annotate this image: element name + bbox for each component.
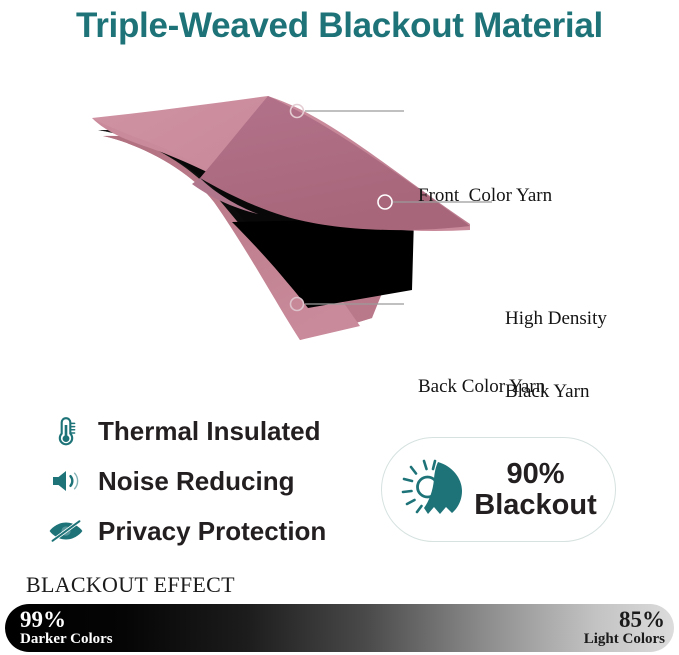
sun-behind-curtain-icon (400, 457, 470, 523)
darker-colors-label: Darker Colors (20, 631, 220, 648)
darker-colors-percent: 99% (20, 608, 220, 631)
fabric-layers-diagram: Front Color Yarn High Density Black Yarn… (0, 78, 679, 368)
layer-front-color-yarn (92, 96, 470, 231)
page-title: Triple-Weaved Blackout Material (0, 2, 679, 50)
blackout-badge-word: Blackout (474, 490, 596, 521)
light-colors-percent: 85% (619, 608, 665, 631)
blackout-effect-left-value: 99% Darker Colors (20, 604, 220, 652)
blackout-badge-percent: 90% (474, 459, 596, 490)
feature-list: Thermal Insulated Noise Reducing Privacy… (46, 408, 376, 558)
blackout-effect-heading: BLACKOUT EFFECT (26, 572, 235, 598)
blackout-effect-right-value: 85% Light Colors (445, 604, 665, 652)
feature-item-thermal-insulated: Thermal Insulated (46, 408, 376, 454)
callout-label-high-density-line1: High Density (505, 307, 607, 331)
blackout-percentage-badge: 90% Blackout (381, 437, 616, 542)
callout-label-front-color-yarn: Front Color Yarn (418, 184, 552, 208)
feature-label-noise-reducing: Noise Reducing (98, 466, 294, 497)
light-colors-label: Light Colors (584, 631, 665, 648)
page-title-text: Triple-Weaved Blackout Material (76, 6, 603, 46)
feature-label-thermal-insulated: Thermal Insulated (98, 416, 321, 447)
thermometer-icon (46, 413, 86, 449)
speaker-icon (46, 463, 86, 499)
blackout-badge-text: 90% Blackout (474, 459, 596, 520)
eye-slash-icon (46, 513, 86, 549)
callout-label-back-color-yarn: Back Color Yarn (418, 375, 545, 399)
feature-item-privacy-protection: Privacy Protection (46, 508, 376, 554)
callout-label-high-density-black-yarn: High Density Black Yarn (505, 258, 607, 453)
feature-label-privacy-protection: Privacy Protection (98, 516, 326, 547)
feature-item-noise-reducing: Noise Reducing (46, 458, 376, 504)
